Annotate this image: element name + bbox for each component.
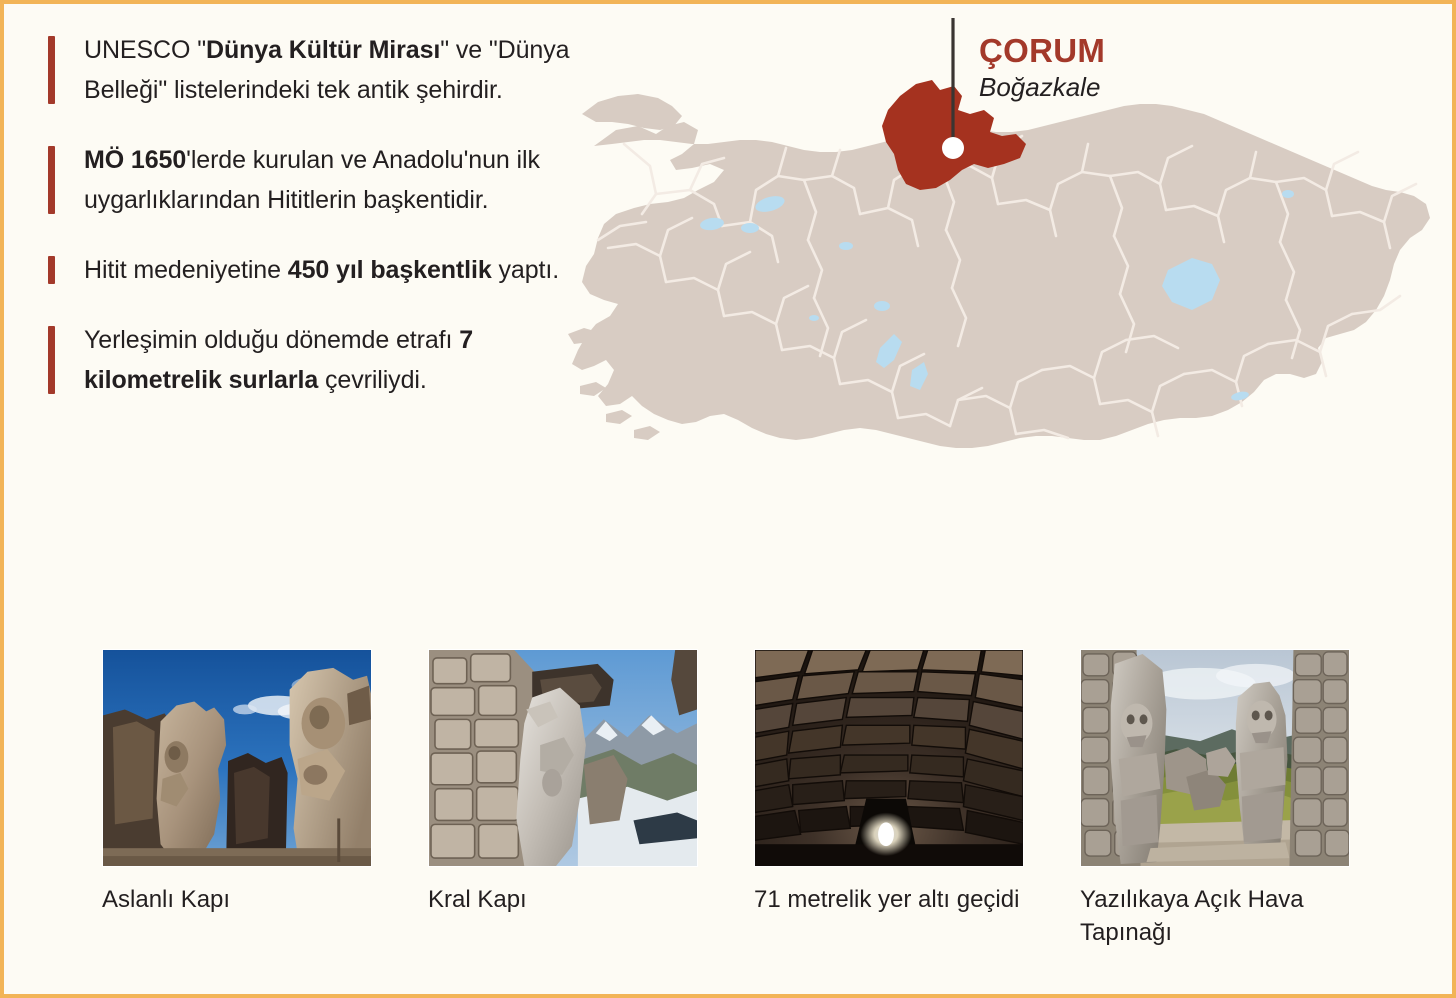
- fact-accent-bar: [48, 146, 55, 214]
- lion-gate-photo: [102, 649, 372, 867]
- fact-accent-bar: [48, 256, 55, 284]
- turkey-map-graphic: [564, 18, 1444, 498]
- fact-text: Hitit medeniyetine 450 yıl başkentlik ya…: [84, 250, 578, 290]
- photo-caption: Yazılıkaya Açık Hava Tapınağı: [1080, 883, 1350, 949]
- photo-gallery: Aslanlı Kapı: [102, 649, 1392, 949]
- fact-item-city-walls: Yerleşimin olduğu dönemde etrafı 7 kilom…: [48, 320, 578, 400]
- gallery-card: 71 metrelik yer altı geçidi: [754, 649, 1024, 949]
- kings-gate-photo: [428, 649, 698, 867]
- underground-tunnel-photo: [754, 649, 1024, 867]
- photo-caption: Aslanlı Kapı: [102, 883, 372, 916]
- map-city-marker: [942, 137, 964, 159]
- fact-text: MÖ 1650'lerde kurulan ve Anadolu'nun ilk…: [84, 140, 578, 220]
- fact-accent-bar: [48, 36, 55, 104]
- gallery-card: Kral Kapı: [428, 649, 698, 949]
- fact-item-unesco: UNESCO "Dünya Kültür Mirası" ve "Dünya B…: [48, 30, 578, 110]
- fact-text: Yerleşimin olduğu dönemde etrafı 7 kilom…: [84, 320, 578, 400]
- fact-text: UNESCO "Dünya Kültür Mirası" ve "Dünya B…: [84, 30, 578, 110]
- yazilikaya-sphinx-gate-photo: [1080, 649, 1350, 867]
- photo-caption: 71 metrelik yer altı geçidi: [754, 883, 1024, 916]
- fact-item-founded: MÖ 1650'lerde kurulan ve Anadolu'nun ilk…: [48, 140, 578, 220]
- turkey-map-panel: ÇORUM Boğazkale: [564, 18, 1444, 498]
- fact-accent-bar: [48, 326, 55, 394]
- facts-list: UNESCO "Dünya Kültür Mirası" ve "Dünya B…: [48, 30, 578, 430]
- gallery-card: Aslanlı Kapı: [102, 649, 372, 949]
- gallery-card: Yazılıkaya Açık Hava Tapınağı: [1080, 649, 1350, 949]
- infographic-page: UNESCO "Dünya Kültür Mirası" ve "Dünya B…: [0, 0, 1456, 998]
- photo-caption: Kral Kapı: [428, 883, 698, 916]
- fact-item-capital-duration: Hitit medeniyetine 450 yıl başkentlik ya…: [48, 250, 578, 290]
